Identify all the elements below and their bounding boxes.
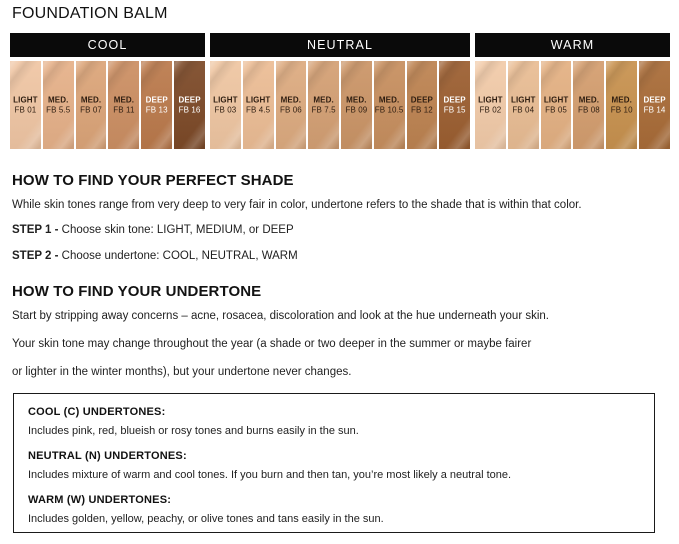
swatch-code: FB 11: [108, 105, 139, 115]
swatch-label: MED.FB 08: [573, 96, 604, 115]
undertone-group-cool: COOLLIGHTFB 01MED.FB 5.5MED.FB 07MED.FB …: [10, 33, 205, 149]
undertone-group-warm: WARMLIGHTFB 02LIGHTFB 04LIGHTFB 05MED.FB…: [475, 33, 670, 149]
step-1-line: STEP 1 - Choose skin tone: LIGHT, MEDIUM…: [12, 223, 667, 238]
swatch-label: LIGHTFB 03: [210, 96, 241, 115]
swatch-code: FB 05: [541, 105, 572, 115]
foundation-balm-shade-guide: FOUNDATION BALM COOLLIGHTFB 01MED.FB 5.5…: [0, 0, 679, 544]
swatch-code: FB 4.5: [243, 105, 274, 115]
undertone-group-neutral: NEUTRALLIGHTFB 03LIGHTFB 4.5MED.FB 06MED…: [210, 33, 470, 149]
undertone-term: WARM (W) UNDERTONES:: [28, 494, 640, 506]
step-2-line: STEP 2 - Choose undertone: COOL, NEUTRAL…: [12, 249, 667, 264]
swatch-tone: MED.: [43, 96, 74, 106]
swatch-tone: LIGHT: [243, 96, 274, 106]
swatch-tone: MED.: [374, 96, 405, 106]
shade-swatch[interactable]: MED.FB 10: [606, 61, 637, 149]
undertone-description: Includes pink, red, blueish or rosy tone…: [28, 424, 640, 438]
shade-swatch[interactable]: MED.FB 07: [76, 61, 107, 149]
shade-swatch[interactable]: MED.FB 10.5: [374, 61, 405, 149]
swatch-label: MED.FB 06: [276, 96, 307, 115]
shade-swatch[interactable]: MED.FB 06: [276, 61, 307, 149]
undertone-line-3: or lighter in the winter months), but yo…: [12, 365, 667, 380]
group-header-warm: WARM: [475, 33, 670, 57]
perfect-shade-heading: HOW TO FIND YOUR PERFECT SHADE: [12, 172, 667, 189]
swatch-label: DEEPFB 12: [407, 96, 438, 115]
swatch-code: FB 10.5: [374, 105, 405, 115]
swatch-label: DEEPFB 16: [174, 96, 205, 115]
swatch-label: MED.FB 07: [76, 96, 107, 115]
undertone-description: Includes mixture of warm and cool tones.…: [28, 468, 640, 482]
swatch-code: FB 14: [639, 105, 670, 115]
swatch-tone: MED.: [108, 96, 139, 106]
shade-swatch[interactable]: LIGHTFB 01: [10, 61, 41, 149]
swatch-code: FB 07: [76, 105, 107, 115]
undertone-line-2: Your skin tone may change throughout the…: [12, 337, 667, 352]
section-undertone: HOW TO FIND YOUR UNDERTONE Start by stri…: [12, 283, 667, 393]
swatch-row-neutral: LIGHTFB 03LIGHTFB 4.5MED.FB 06MED.FB 7.5…: [210, 61, 470, 149]
page-title: FOUNDATION BALM: [12, 5, 168, 23]
swatch-code: FB 10: [606, 105, 637, 115]
swatch-tone: MED.: [308, 96, 339, 106]
shade-swatch[interactable]: LIGHTFB 04: [508, 61, 539, 149]
swatch-tone: DEEP: [407, 96, 438, 106]
swatch-label: LIGHTFB 04: [508, 96, 539, 115]
undertone-definition: NEUTRAL (N) UNDERTONES:Includes mixture …: [28, 450, 640, 482]
swatch-tone: LIGHT: [10, 96, 41, 106]
step-1-text: Choose skin tone: LIGHT, MEDIUM, or DEEP: [58, 224, 293, 236]
shade-swatch[interactable]: DEEPFB 16: [174, 61, 205, 149]
shade-swatch[interactable]: LIGHTFB 05: [541, 61, 572, 149]
swatch-label: MED.FB 09: [341, 96, 372, 115]
group-header-cool: COOL: [10, 33, 205, 57]
swatch-tone: MED.: [606, 96, 637, 106]
shade-swatch[interactable]: MED.FB 09: [341, 61, 372, 149]
step-2-label: STEP 2 -: [12, 250, 58, 262]
shade-swatch[interactable]: MED.FB 11: [108, 61, 139, 149]
swatch-code: FB 08: [573, 105, 604, 115]
swatch-code: FB 5.5: [43, 105, 74, 115]
swatch-tone: MED.: [276, 96, 307, 106]
swatch-tone: MED.: [573, 96, 604, 106]
swatch-tone: DEEP: [439, 96, 470, 106]
swatch-tone: LIGHT: [210, 96, 241, 106]
swatch-tone: LIGHT: [541, 96, 572, 106]
undertone-definition: COOL (C) UNDERTONES:Includes pink, red, …: [28, 406, 640, 438]
shade-swatch[interactable]: LIGHTFB 02: [475, 61, 506, 149]
perfect-shade-intro: While skin tones range from very deep to…: [12, 198, 667, 213]
shade-swatch[interactable]: MED.FB 7.5: [308, 61, 339, 149]
swatch-code: FB 12: [407, 105, 438, 115]
shade-swatch[interactable]: LIGHTFB 03: [210, 61, 241, 149]
shade-swatch[interactable]: DEEPFB 15: [439, 61, 470, 149]
swatch-label: LIGHTFB 4.5: [243, 96, 274, 115]
undertone-heading: HOW TO FIND YOUR UNDERTONE: [12, 283, 667, 300]
shade-chart: COOLLIGHTFB 01MED.FB 5.5MED.FB 07MED.FB …: [10, 33, 670, 149]
swatch-code: FB 16: [174, 105, 205, 115]
shade-swatch[interactable]: MED.FB 5.5: [43, 61, 74, 149]
swatch-tone: LIGHT: [508, 96, 539, 106]
swatch-code: FB 01: [10, 105, 41, 115]
step-1-label: STEP 1 -: [12, 224, 58, 236]
undertone-line-1: Start by stripping away concerns – acne,…: [12, 309, 667, 324]
shade-swatch[interactable]: DEEPFB 12: [407, 61, 438, 149]
swatch-label: DEEPFB 14: [639, 96, 670, 115]
swatch-code: FB 02: [475, 105, 506, 115]
swatch-label: MED.FB 7.5: [308, 96, 339, 115]
swatch-code: FB 15: [439, 105, 470, 115]
swatch-label: MED.FB 5.5: [43, 96, 74, 115]
undertone-definitions-box: COOL (C) UNDERTONES:Includes pink, red, …: [13, 393, 655, 533]
swatch-code: FB 04: [508, 105, 539, 115]
swatch-code: FB 03: [210, 105, 241, 115]
swatch-label: MED.FB 11: [108, 96, 139, 115]
swatch-tone: DEEP: [639, 96, 670, 106]
group-header-neutral: NEUTRAL: [210, 33, 470, 57]
swatch-label: LIGHTFB 02: [475, 96, 506, 115]
undertone-description: Includes golden, yellow, peachy, or oliv…: [28, 512, 640, 526]
undertone-definition: WARM (W) UNDERTONES:Includes golden, yel…: [28, 494, 640, 526]
swatch-tone: MED.: [76, 96, 107, 106]
swatch-row-warm: LIGHTFB 02LIGHTFB 04LIGHTFB 05MED.FB 08M…: [475, 61, 670, 149]
section-perfect-shade: HOW TO FIND YOUR PERFECT SHADE While ski…: [12, 172, 667, 275]
step-2-text: Choose undertone: COOL, NEUTRAL, WARM: [58, 250, 297, 262]
undertone-term: NEUTRAL (N) UNDERTONES:: [28, 450, 640, 462]
swatch-label: DEEPFB 15: [439, 96, 470, 115]
swatch-tone: LIGHT: [475, 96, 506, 106]
swatch-label: MED.FB 10: [606, 96, 637, 115]
swatch-tone: DEEP: [174, 96, 205, 106]
shade-swatch[interactable]: DEEPFB 13: [141, 61, 172, 149]
swatch-code: FB 7.5: [308, 105, 339, 115]
swatch-label: MED.FB 10.5: [374, 96, 405, 115]
shade-swatch[interactable]: MED.FB 08: [573, 61, 604, 149]
swatch-code: FB 09: [341, 105, 372, 115]
shade-swatch[interactable]: LIGHTFB 4.5: [243, 61, 274, 149]
undertone-term: COOL (C) UNDERTONES:: [28, 406, 640, 418]
swatch-label: LIGHTFB 01: [10, 96, 41, 115]
swatch-label: LIGHTFB 05: [541, 96, 572, 115]
swatch-code: FB 06: [276, 105, 307, 115]
swatch-tone: MED.: [341, 96, 372, 106]
swatch-row-cool: LIGHTFB 01MED.FB 5.5MED.FB 07MED.FB 11DE…: [10, 61, 205, 149]
swatch-label: DEEPFB 13: [141, 96, 172, 115]
shade-swatch[interactable]: DEEPFB 14: [639, 61, 670, 149]
swatch-code: FB 13: [141, 105, 172, 115]
swatch-tone: DEEP: [141, 96, 172, 106]
